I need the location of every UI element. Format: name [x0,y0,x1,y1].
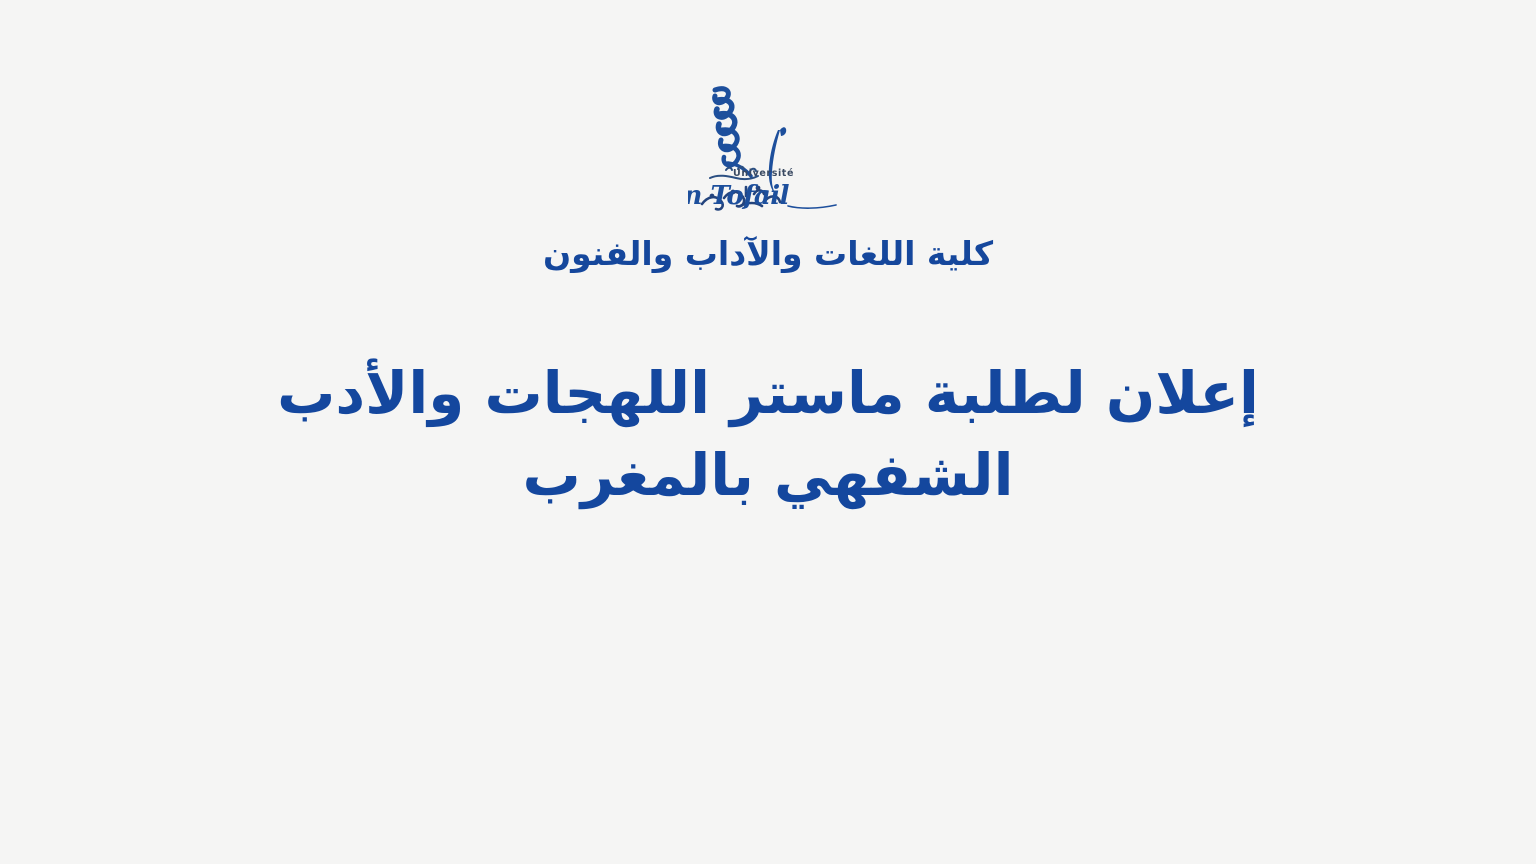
svg-text:Université: Université [733,168,794,179]
announcement-slide: Université bn Tofail كلية اللغات والآداب… [0,0,1536,864]
header-block: Université bn Tofail كلية اللغات والآداب… [0,78,1536,274]
logo-container: Université bn Tofail [0,78,1536,228]
headline-line-2: الشفهي بالمغرب [240,434,1296,516]
page-title: إعلان لطلبة ماستر اللهجات والأدب الشفهي … [0,352,1536,517]
svg-text:bn Tofail: bn Tofail [688,181,790,211]
faculty-name: كلية اللغات والآداب والفنون [0,234,1536,274]
headline-line-1: إعلان لطلبة ماستر اللهجات والأدب [240,352,1296,434]
ibn-tofail-university-logo-icon: Université bn Tofail [688,78,848,228]
